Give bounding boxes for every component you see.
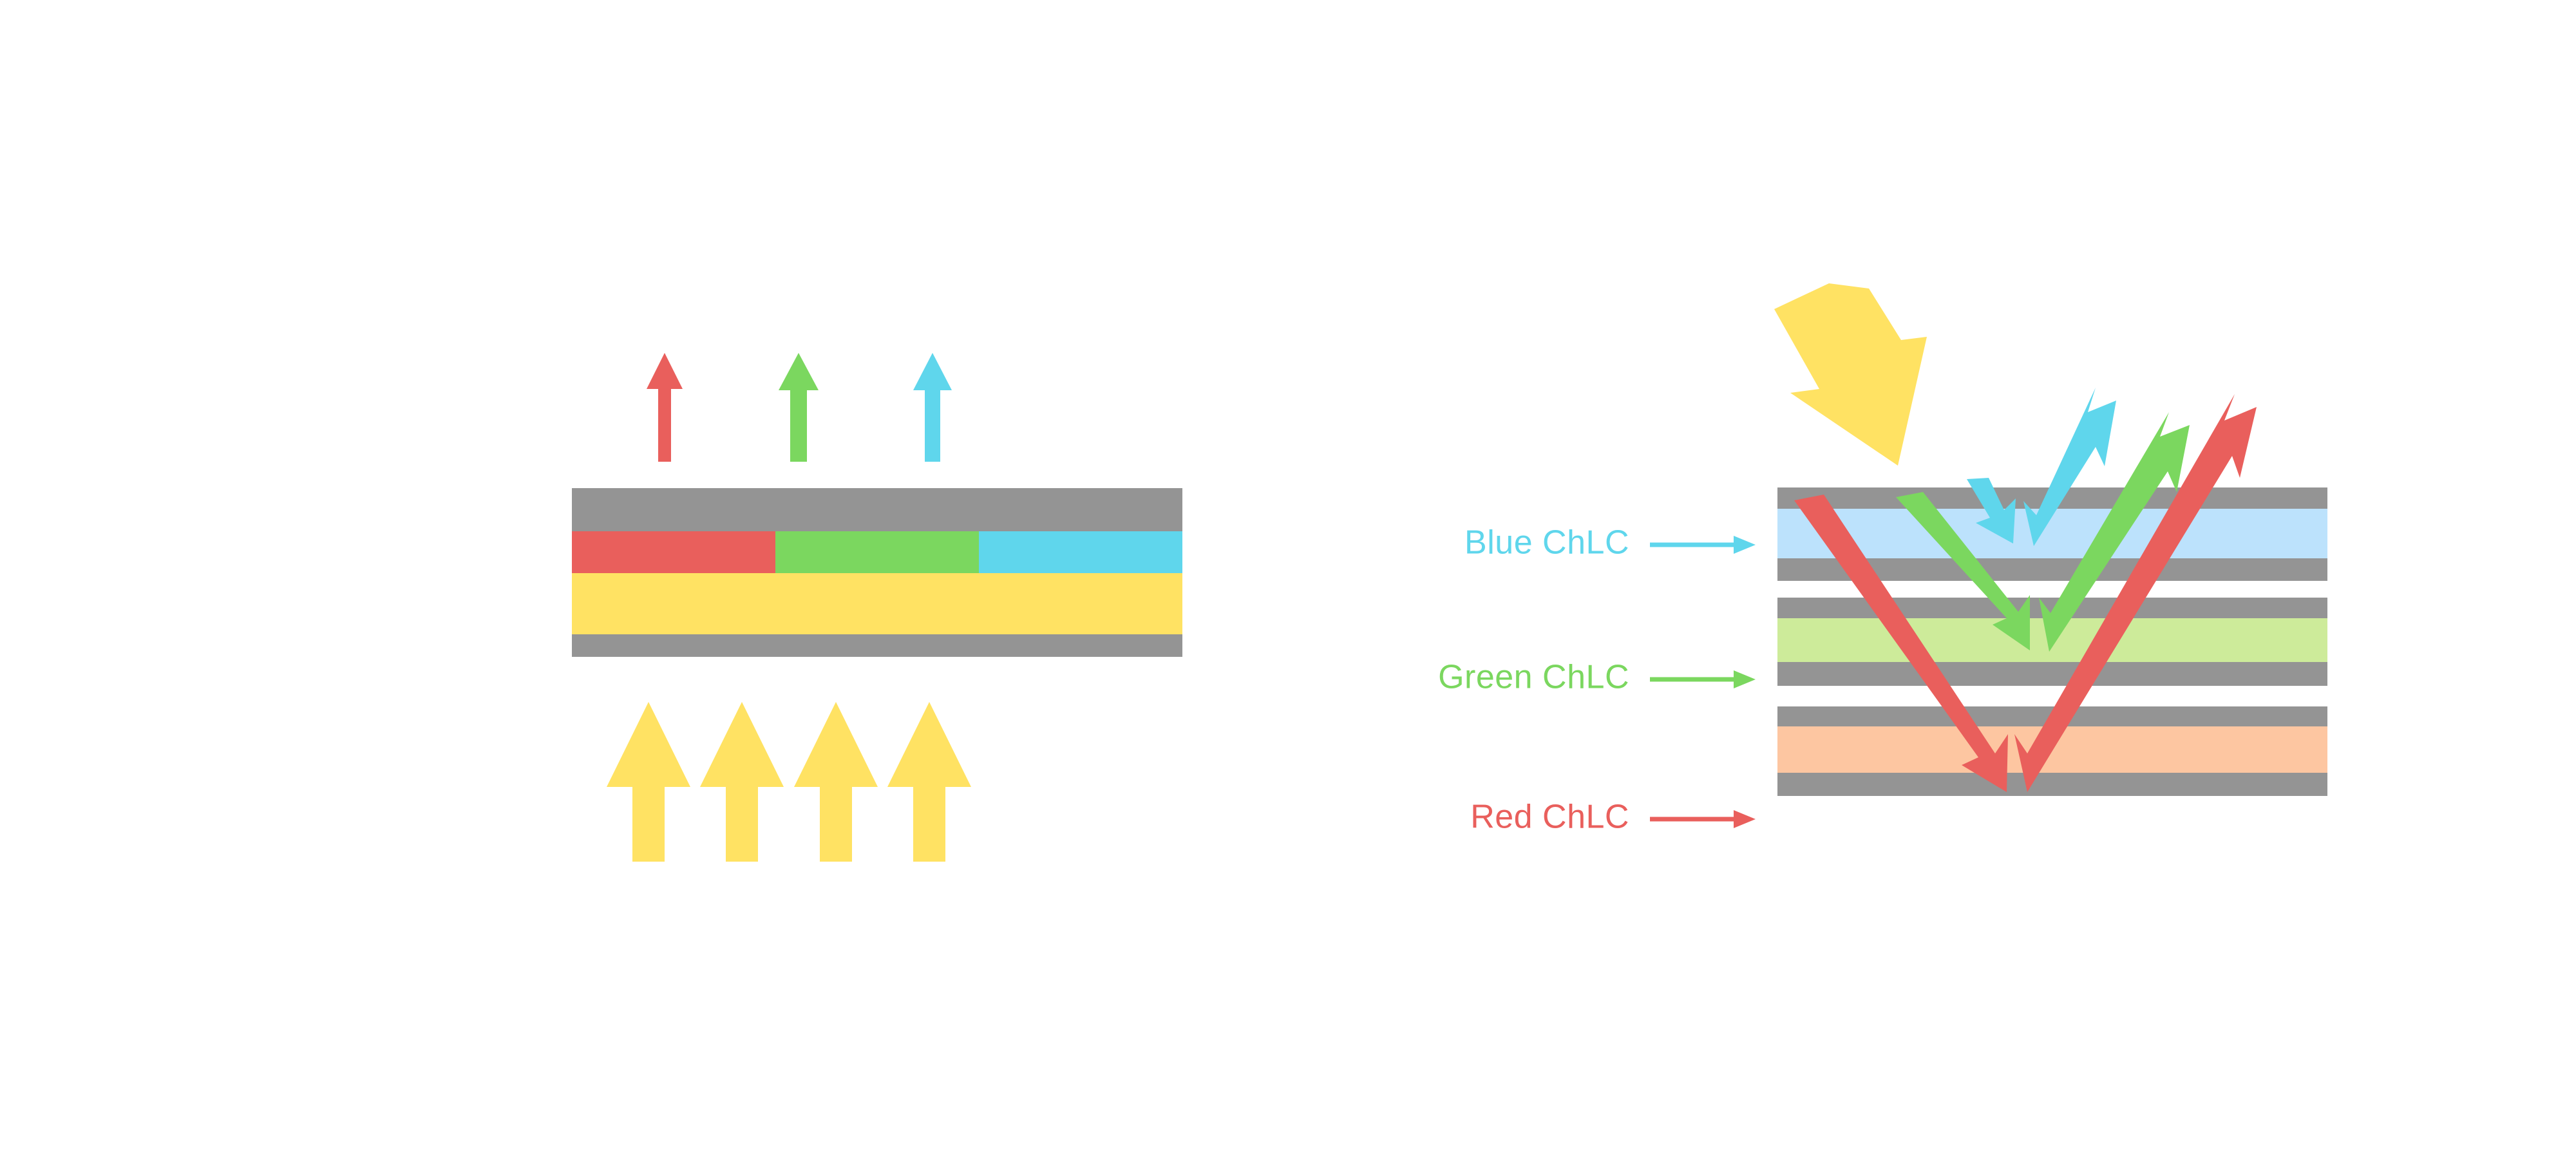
left-blue-subpixel	[979, 531, 1182, 573]
diagram-canvas: Blue ChLC Green ChLC Red ChLC	[0, 0, 2576, 1154]
left-red-subpixel	[572, 531, 775, 573]
red-chlc-label: Red ChLC	[1470, 799, 1629, 836]
red-chlc-bottom-substrate	[1777, 773, 2327, 796]
left-stack	[572, 488, 1182, 657]
left-green-subpixel	[775, 531, 979, 573]
left-top-electrode	[572, 488, 1182, 531]
green-chlc-label: Green ChLC	[1438, 659, 1629, 696]
green-chlc-bottom-substrate	[1777, 662, 2327, 686]
blue-chlc-label: Blue ChLC	[1464, 524, 1629, 562]
left-bottom-electrode	[572, 634, 1182, 657]
figure-root: Blue ChLC Green ChLC Red ChLC	[0, 0, 2576, 1154]
left-yellow-backlight-layer	[572, 573, 1182, 634]
